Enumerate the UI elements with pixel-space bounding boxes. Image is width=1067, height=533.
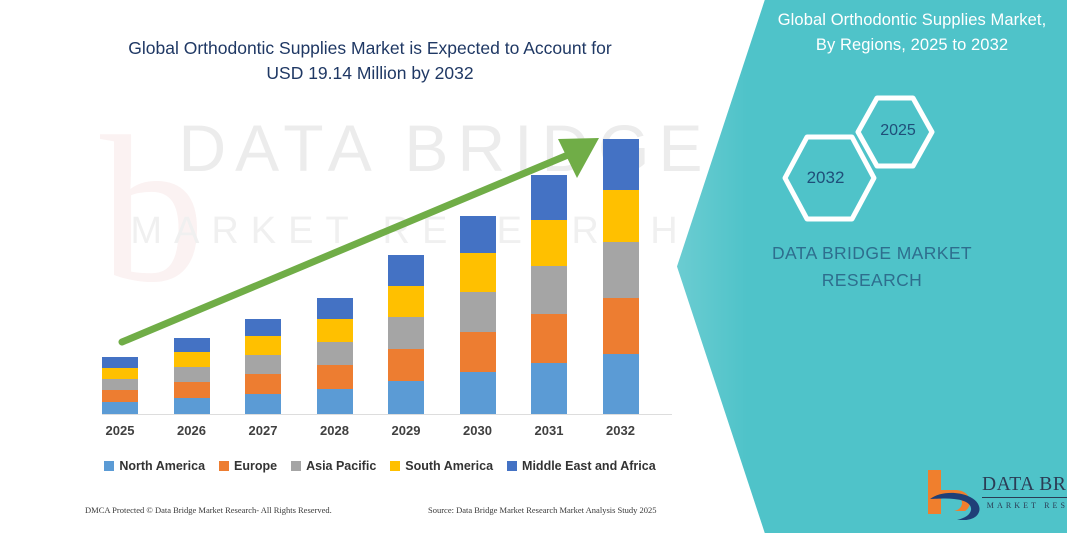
bar-segment xyxy=(102,379,138,390)
bar-segment xyxy=(603,242,639,298)
bar-segment xyxy=(531,314,567,363)
bar-segment xyxy=(460,253,496,292)
legend-item-south-america[interactable]: South America xyxy=(390,459,493,473)
x-label-2031: 2031 xyxy=(519,423,579,438)
legend-item-north-america[interactable]: North America xyxy=(104,459,205,473)
bar-segment xyxy=(460,372,496,414)
bar-segment xyxy=(174,382,210,398)
chart-title-line-1: Global Orthodontic Supplies Market is Ex… xyxy=(128,38,611,58)
bar-2025 xyxy=(102,357,138,414)
chart-legend: North AmericaEuropeAsia PacificSouth Ame… xyxy=(80,455,680,477)
x-label-2029: 2029 xyxy=(376,423,436,438)
logo-mark-icon xyxy=(922,468,984,520)
legend-swatch-icon xyxy=(507,461,517,471)
legend-label: Europe xyxy=(234,459,277,473)
legend-swatch-icon xyxy=(104,461,114,471)
bar-segment xyxy=(102,368,138,379)
logo-name: DATA BRIDGE xyxy=(982,474,1067,498)
legend-label: South America xyxy=(405,459,493,473)
bar-segment xyxy=(388,286,424,317)
bar-segment xyxy=(603,190,639,242)
bar-2031 xyxy=(531,175,567,414)
legend-swatch-icon xyxy=(291,461,301,471)
x-axis-line xyxy=(102,414,672,415)
hexagon-2025: 2025 xyxy=(855,95,935,169)
legend-item-europe[interactable]: Europe xyxy=(219,459,277,473)
legend-label: North America xyxy=(119,459,205,473)
x-label-2028: 2028 xyxy=(305,423,365,438)
hexagon-2032-label: 2032 xyxy=(778,168,873,188)
legend-label: Asia Pacific xyxy=(306,459,376,473)
legend-item-asia-pacific[interactable]: Asia Pacific xyxy=(291,459,376,473)
x-label-2032: 2032 xyxy=(591,423,651,438)
bar-segment xyxy=(102,402,138,414)
bar-segment xyxy=(317,319,353,342)
bar-segment xyxy=(603,354,639,414)
bar-segment xyxy=(317,365,353,389)
infographic-page: b DATA BRIDGE MARKET RESEARCH Global Ort… xyxy=(0,0,1067,533)
bar-segment xyxy=(174,352,210,367)
bar-2028 xyxy=(317,298,353,414)
panel-brand-name: DATA BRIDGE MARKET RESEARCH xyxy=(722,240,1022,294)
bar-segment xyxy=(531,175,567,220)
logo-wordmark: DATA BRIDGE MARKET RESEARCH xyxy=(982,474,1067,510)
legend-label: Middle East and Africa xyxy=(522,459,656,473)
footer: DMCA Protected © Data Bridge Market Rese… xyxy=(0,505,700,527)
bar-segment xyxy=(388,317,424,349)
bar-segment xyxy=(317,342,353,365)
bar-segment xyxy=(460,332,496,372)
bar-segment xyxy=(531,363,567,414)
logo-tagline: MARKET RESEARCH xyxy=(982,501,1067,510)
bar-segment xyxy=(603,298,639,354)
bar-2029 xyxy=(388,255,424,414)
x-label-2026: 2026 xyxy=(162,423,222,438)
bar-segment xyxy=(460,216,496,253)
legend-swatch-icon xyxy=(219,461,229,471)
data-bridge-logo: DATA BRIDGE MARKET RESEARCH xyxy=(922,468,1067,523)
bar-segment xyxy=(174,398,210,414)
bar-2032 xyxy=(603,139,639,414)
bar-segment xyxy=(245,355,281,374)
bar-2027 xyxy=(245,319,281,414)
bar-segment xyxy=(388,255,424,286)
bar-segment xyxy=(460,292,496,332)
bar-segment xyxy=(245,319,281,336)
panel-brand-line-2: RESEARCH xyxy=(822,270,922,290)
bar-segment xyxy=(317,298,353,319)
bar-segment xyxy=(174,338,210,352)
x-label-2027: 2027 xyxy=(233,423,293,438)
x-label-2025: 2025 xyxy=(90,423,150,438)
bar-segment xyxy=(388,349,424,381)
chart-title: Global Orthodontic Supplies Market is Ex… xyxy=(60,36,680,86)
right-brand-panel: Global Orthodontic Supplies Market, By R… xyxy=(677,0,1067,533)
hexagon-2025-label: 2025 xyxy=(858,122,938,140)
bar-segment xyxy=(531,266,567,314)
footer-copyright: DMCA Protected © Data Bridge Market Rese… xyxy=(85,505,332,515)
legend-item-middle-east-and-africa[interactable]: Middle East and Africa xyxy=(507,459,656,473)
bar-segment xyxy=(388,381,424,414)
bar-segment xyxy=(245,374,281,394)
panel-title: Global Orthodontic Supplies Market, By R… xyxy=(767,8,1057,58)
bar-segment xyxy=(102,390,138,402)
panel-title-line-2: By Regions, 2025 to 2032 xyxy=(767,33,1057,58)
x-axis-labels: 20252026202720282029203020312032 xyxy=(80,423,680,445)
x-label-2030: 2030 xyxy=(448,423,508,438)
hexagon-group: 2032 2025 xyxy=(677,92,1067,222)
bar-2026 xyxy=(174,338,210,414)
bar-segment xyxy=(245,336,281,355)
bar-segment xyxy=(102,357,138,368)
stacked-bar-chart xyxy=(80,110,680,415)
bar-segment xyxy=(531,220,567,266)
bar-2030 xyxy=(460,216,496,414)
bar-segment xyxy=(245,394,281,414)
footer-source: Source: Data Bridge Market Research Mark… xyxy=(428,505,657,515)
bar-segment xyxy=(603,139,639,190)
bar-segment xyxy=(174,367,210,382)
legend-swatch-icon xyxy=(390,461,400,471)
bar-segment xyxy=(317,389,353,414)
chart-title-line-2: USD 19.14 Million by 2032 xyxy=(60,61,680,86)
panel-brand-line-1: DATA BRIDGE MARKET xyxy=(772,243,972,263)
panel-title-line-1: Global Orthodontic Supplies Market, xyxy=(778,11,1047,29)
